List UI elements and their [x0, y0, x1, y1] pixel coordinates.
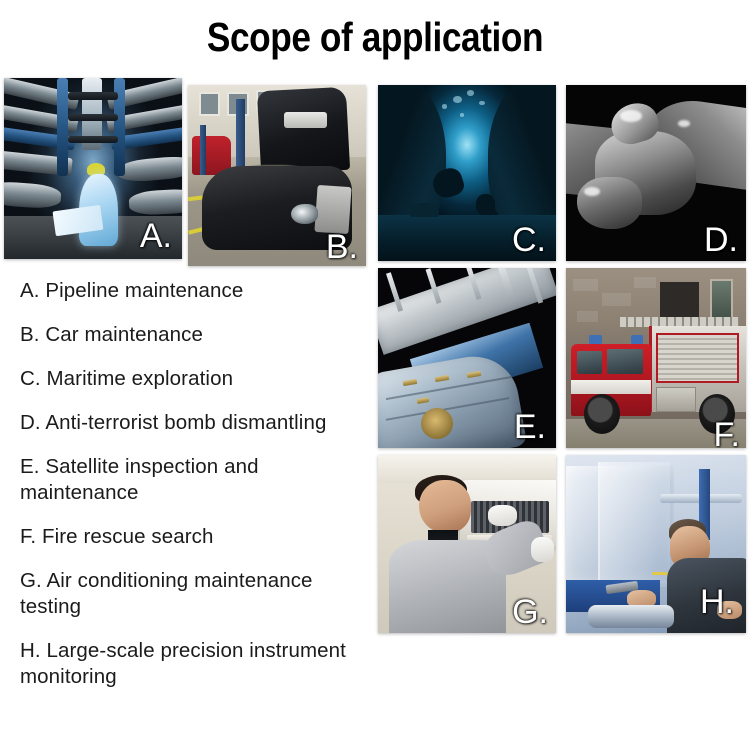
pipeline-scene — [4, 78, 182, 259]
fire-rescue-truck-photo: F. — [566, 268, 746, 448]
cylinder-part — [588, 605, 674, 628]
list-item: F. Fire rescue search — [20, 524, 372, 550]
list-item: G. Air conditioning maintenance testing — [20, 568, 372, 620]
instrument-scene — [566, 455, 746, 633]
bomb-dismantling-handshake-photo: D. — [566, 85, 746, 261]
application-list: A. Pipeline maintenance B. Car maintenan… — [20, 278, 372, 690]
satellite-inspection-photo: E. — [378, 268, 556, 448]
handshake-scene — [566, 85, 746, 261]
list-item: E. Satellite inspection and maintenance — [20, 454, 372, 506]
work-glove — [488, 505, 516, 526]
cab-stripe — [571, 380, 650, 394]
work-glove — [531, 537, 554, 562]
precision-instrument-photo: H. — [566, 455, 746, 633]
car-headlight — [291, 204, 318, 224]
list-item: A. Pipeline maintenance — [20, 278, 372, 304]
fire-truck-scene — [566, 268, 746, 448]
underwater-scene — [378, 85, 556, 261]
garage-scene — [188, 85, 366, 266]
maritime-exploration-photo: C. — [378, 85, 556, 261]
module-hatch — [421, 408, 453, 439]
satellite-scene — [378, 268, 556, 448]
list-item: B. Car maintenance — [20, 322, 372, 348]
air-conditioning-service-photo: G. — [378, 455, 556, 633]
list-item: D. Anti-terrorist bomb dismantling — [20, 410, 372, 436]
technician-torso — [667, 558, 746, 633]
car-open-hood — [257, 86, 350, 174]
roller-shutter — [656, 333, 739, 383]
technician-head — [419, 480, 471, 533]
diver-figure — [476, 194, 496, 215]
page-title: Scope of application — [53, 14, 698, 61]
car-maintenance-photo: B. — [188, 85, 366, 266]
ac-service-scene — [378, 455, 556, 633]
technician-hand — [717, 601, 742, 619]
pipeline-maintenance-photo: A. — [4, 78, 182, 259]
list-item: H. Large-scale precision instrument moni… — [20, 638, 372, 690]
list-item: C. Maritime exploration — [20, 366, 372, 392]
